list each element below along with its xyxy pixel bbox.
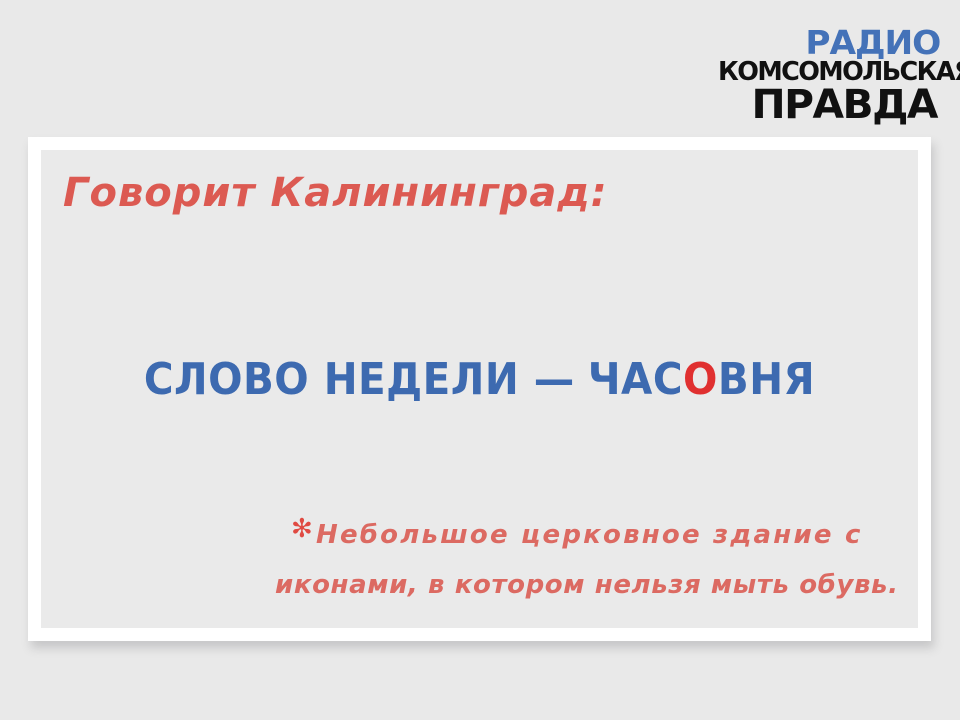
footnote-line-one-text: Небольшое церковное здание с [316,520,863,550]
logo-line-pravda: ПРАВДА [714,85,938,125]
logo-line-radio: РАДИО [714,26,943,59]
footnote: ✻Небольшое церковное здание с иконами, в… [289,514,918,600]
quote-card-inner: Говорит Калининград: СЛОВО НЕДЕЛИ — ЧАСО… [41,150,918,628]
quote-card: Говорит Калининград: СЛОВО НЕДЕЛИ — ЧАСО… [28,137,931,641]
headline-part-one: СЛОВО НЕДЕЛИ [144,354,519,405]
asterisk-icon: ✻ [291,514,315,544]
footnote-line-two: иконами, в котором нельзя мыть обувь. [275,570,918,600]
brand-logo: РАДИО КОМСОМОЛЬСКАЯ ПРАВДА [718,26,938,125]
headline-word-after-accent: ВНЯ [718,354,815,405]
headline-dash: — [534,354,574,405]
headline-word-before-accent: ЧАС [588,354,683,405]
headline-accent-letter: О [683,354,718,405]
card-header-text: Говорит Калининград: [63,170,608,216]
footnote-line-one: ✻Небольшое церковное здание с [291,514,918,550]
headline: СЛОВО НЕДЕЛИ — ЧАСОВНЯ [76,354,883,405]
